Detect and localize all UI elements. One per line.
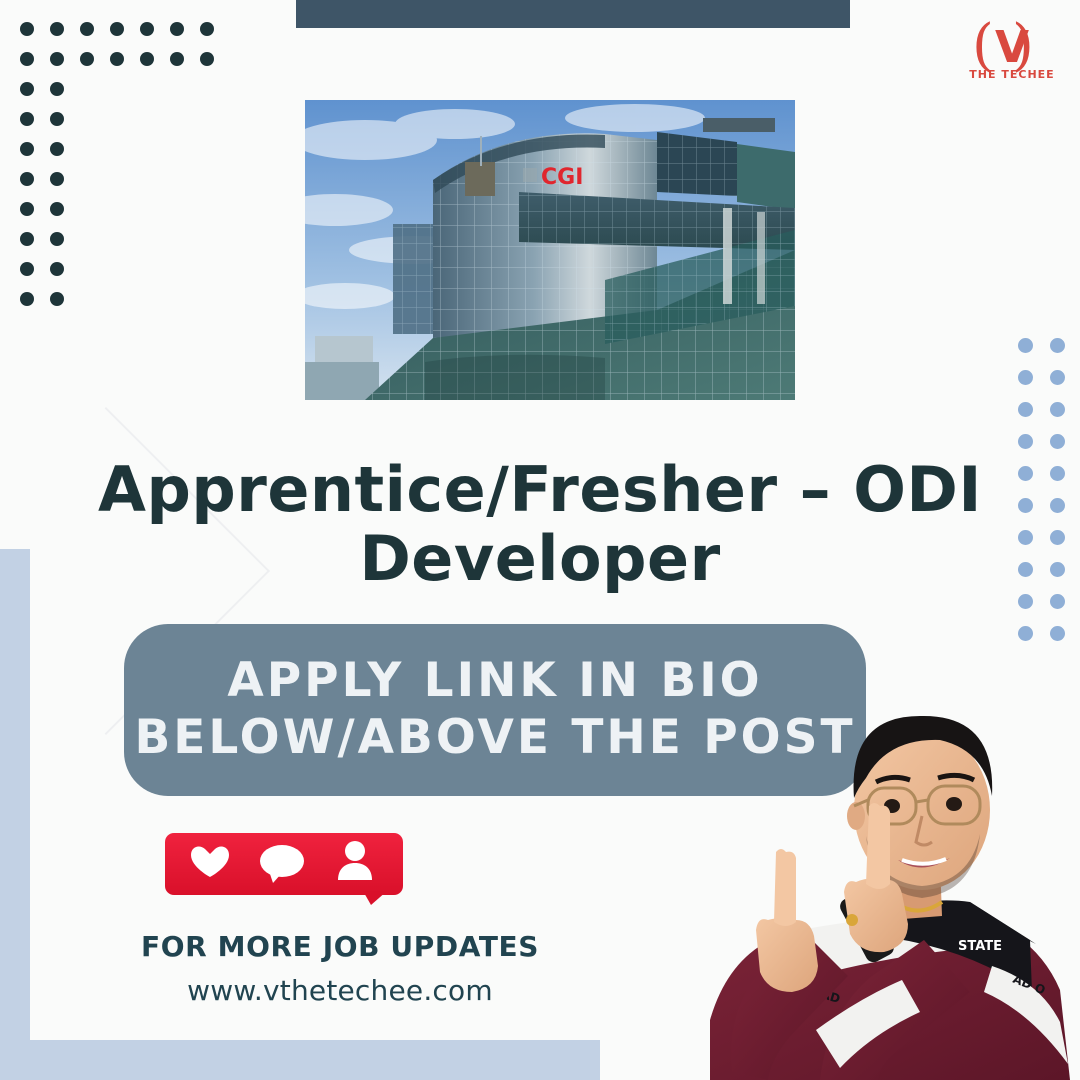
- footer-website[interactable]: www.vthetechee.com: [60, 974, 620, 1007]
- brand-logo[interactable]: ( ) V THE TECHEE: [964, 12, 1060, 92]
- decor-dot: [1050, 466, 1065, 481]
- left-side-panel: [0, 549, 30, 1080]
- footer-block: FOR MORE JOB UPDATES www.vthetechee.com: [60, 930, 620, 1007]
- company-building-photo: CGI: [305, 100, 795, 400]
- decor-dot: [50, 112, 64, 126]
- decor-dot: [200, 22, 214, 36]
- decor-dot: [1018, 370, 1033, 385]
- decor-dot: [20, 142, 34, 156]
- decor-dot: [80, 22, 94, 36]
- decor-dot: [110, 22, 124, 36]
- job-title-line-2: Developer: [60, 524, 1020, 593]
- decor-dot: [50, 262, 64, 276]
- decor-dot: [20, 232, 34, 246]
- decor-dot: [1050, 530, 1065, 545]
- presenter-photo: STATE AD O Y EAD: [640, 620, 1080, 1080]
- decor-dot: [20, 82, 34, 96]
- decor-dot: [1018, 498, 1033, 513]
- poster-canvas: ( ) V THE TECHEE: [0, 0, 1080, 1080]
- svg-text:CGI: CGI: [541, 165, 583, 190]
- decor-dot: [1050, 338, 1065, 353]
- svg-text:V: V: [995, 22, 1029, 73]
- decor-dot: [1050, 498, 1065, 513]
- decor-dot: [50, 52, 64, 66]
- decor-dot: [20, 202, 34, 216]
- decor-dot: [1018, 402, 1033, 417]
- decor-dot: [50, 172, 64, 186]
- decor-dot: [1050, 562, 1065, 577]
- decor-dot: [50, 22, 64, 36]
- bottom-panel: [0, 1040, 600, 1080]
- decor-dot: [20, 52, 34, 66]
- decor-dot: [20, 262, 34, 276]
- decor-dot: [1018, 434, 1033, 449]
- decor-dot: [1050, 594, 1065, 609]
- decor-dot: [20, 172, 34, 186]
- decor-dot: [1018, 530, 1033, 545]
- decor-dot: [1018, 594, 1033, 609]
- decor-dot: [1018, 562, 1033, 577]
- decor-dot: [1050, 370, 1065, 385]
- decor-dot: [80, 52, 94, 66]
- svg-text:THE TECHEE: THE TECHEE: [969, 68, 1054, 81]
- social-engagement-badge: [165, 833, 403, 905]
- decor-dot: [110, 52, 124, 66]
- decor-dot: [20, 22, 34, 36]
- decor-dot: [170, 22, 184, 36]
- decor-dot: [1018, 466, 1033, 481]
- decor-dot: [140, 22, 154, 36]
- decor-dot: [50, 82, 64, 96]
- decor-dot: [50, 142, 64, 156]
- decor-dot: [200, 52, 214, 66]
- job-title: Apprentice/Fresher – ODI Developer: [60, 455, 1020, 594]
- top-accent-bar: [296, 0, 850, 28]
- decor-dot: [20, 112, 34, 126]
- shirt-text-state: STATE: [958, 939, 1002, 954]
- decor-dot: [1050, 402, 1065, 417]
- decor-dot: [20, 292, 34, 306]
- pointing-hand-left: [756, 849, 818, 992]
- decor-dot: [140, 52, 154, 66]
- decor-dot: [50, 292, 64, 306]
- footer-cta: FOR MORE JOB UPDATES: [60, 930, 620, 963]
- decor-dot: [1050, 434, 1065, 449]
- decor-dot: [1018, 338, 1033, 353]
- decor-dot: [50, 232, 64, 246]
- decor-dot: [170, 52, 184, 66]
- decor-dot: [50, 202, 64, 216]
- job-title-line-1: Apprentice/Fresher – ODI: [60, 455, 1020, 524]
